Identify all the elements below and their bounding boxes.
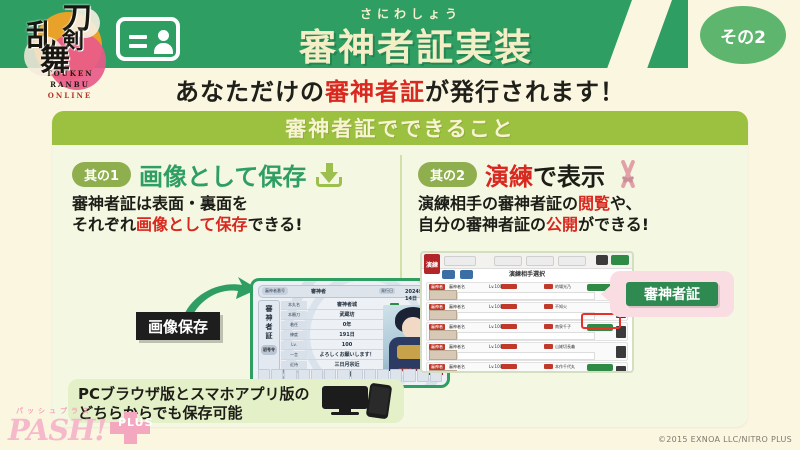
crossed-swords-icon xyxy=(613,159,643,191)
section-2-desc-line1: 演練相手の審神者証の閲覧や、 xyxy=(418,193,649,214)
saniwa-card-callout: 審神者証 xyxy=(610,271,734,317)
subtitle: あなただけの審神者証が発行されます！ xyxy=(0,72,800,107)
card-rows: 本丸名審神者城 本願刀武蔵坊 着任0年 練度191日 Lv.100 一言よろしく… xyxy=(281,300,387,380)
desc2-b: 画像として xyxy=(136,215,216,234)
smartphone-icon xyxy=(366,383,393,420)
copyright-text: ©2015 EXNOA LLC/NITRO PLUS xyxy=(658,435,792,444)
practice-screen-mock: 演練 演練相手選択 審神者 審神者名 Lv.100 的場光乃 xyxy=(420,251,634,373)
section-1-pill: 其の1 xyxy=(72,162,131,187)
subtitle-before: あなただけの xyxy=(175,78,325,106)
card-row: 着任0年 xyxy=(281,320,387,330)
card-row: 本願刀武蔵坊 xyxy=(281,310,387,320)
section-2-description: 演練相手の審神者証の閲覧や、 自分の審神者証の公開ができる! xyxy=(418,193,649,235)
card-date-label: 発行日 xyxy=(379,288,395,294)
page-title: 審神者証実装 xyxy=(236,17,596,71)
note-left-line1: PCブラウザ版とスマホアプリ版の xyxy=(78,385,310,404)
mock-list-row[interactable]: 審神者 審神者名 Lv.100 的場光乃 xyxy=(426,282,628,301)
s2-d2a: 自分の審神者証の xyxy=(418,215,546,234)
s2-d1a: 演練相手の審神者証の xyxy=(418,194,578,213)
mock-practice-tab: 演練 xyxy=(424,254,440,274)
section-2-pill: 其の2 xyxy=(418,162,477,187)
pash-plus-logo: パッシュプラス PASH! PLUS xyxy=(6,406,176,448)
id-card-icon xyxy=(116,17,180,61)
section-practice-display: 其の2 演練で表示 演練相手の審神者証の閲覧や、 自分の審神者証の公開ができる!… xyxy=(406,151,740,427)
s2-d2c: ができる! xyxy=(578,215,649,234)
pash-plus-text: PLUS xyxy=(118,416,154,429)
card-name: 審神者 xyxy=(311,288,326,295)
callout-chip-label: 審神者証 xyxy=(626,282,718,306)
mock-toolbar: 演練 xyxy=(422,253,632,269)
section-1-desc-line1: 審神者証は表面・裏面を xyxy=(72,193,303,214)
section-1-description: 審神者証は表面・裏面を それぞれ画像として保存できる! xyxy=(72,193,303,235)
panel-heading: 審神者証でできること xyxy=(52,111,748,145)
card-row: 一言よろしくお願いします！ xyxy=(281,350,387,360)
s2-d1c: や、 xyxy=(610,194,642,213)
s2-d1b: 閲覧 xyxy=(578,194,610,213)
card-id-label: 審神者番号 xyxy=(262,287,288,295)
section-2-title-plain: で表示 xyxy=(533,163,605,191)
card-row: 練度191日 xyxy=(281,330,387,340)
section-2-desc-line2: 自分の審神者証の公開ができる! xyxy=(418,214,649,235)
desc2-d: できる! xyxy=(248,215,303,234)
subtitle-highlight: 審神者証 xyxy=(325,78,425,106)
card-side-title: 審神者証 初号令 xyxy=(258,300,280,380)
card-row: Lv.100 xyxy=(281,340,387,350)
section-1-header: 其の1 画像として保存 xyxy=(72,157,344,192)
infographic-root: 刀 乱 剣 舞 TOUKEN RANBU ONLINE さにわしょう 審神者証実… xyxy=(0,0,800,450)
mock-list-row[interactable]: 審神者 審神者名 Lv.100 本作千代丸 xyxy=(426,362,628,373)
card-row: 本丸名審神者城 xyxy=(281,300,387,310)
device-icon-group xyxy=(322,384,394,418)
download-icon xyxy=(314,160,344,190)
desc2-a: それぞれ xyxy=(72,215,136,234)
section-1-title: 画像として保存 xyxy=(139,157,306,192)
section-1-title-text: 画像として保存 xyxy=(139,163,306,191)
desc2-c: 保存 xyxy=(216,215,248,234)
save-tag-label: 画像保存 xyxy=(136,312,220,340)
subtitle-after: が発行されます！ xyxy=(425,78,625,106)
section-1-desc-line2: それぞれ画像として保存できる! xyxy=(72,214,303,235)
card-side-pill: 初号令 xyxy=(261,345,277,355)
section-2-title: 演練で表示 xyxy=(485,157,605,192)
s2-d2b: 公開 xyxy=(546,215,578,234)
pash-brand: PASH! xyxy=(8,413,106,447)
section-2-title-highlight: 演練 xyxy=(485,163,533,191)
main-panel: 審神者証でできること 其の1 画像として保存 審神者証は表面・裏面を それぞれ画… xyxy=(52,111,748,427)
section-2-header: 其の2 演練で表示 xyxy=(418,157,643,192)
mock-list-row[interactable]: 審神者 審神者名 Lv.100 山姥切長義 xyxy=(426,342,628,361)
section-image-save: 其の1 画像として保存 審神者証は表面・裏面を それぞれ画像として保存できる! … xyxy=(60,151,398,427)
series-badge: その2 xyxy=(700,6,786,64)
monitor-icon xyxy=(322,386,368,414)
